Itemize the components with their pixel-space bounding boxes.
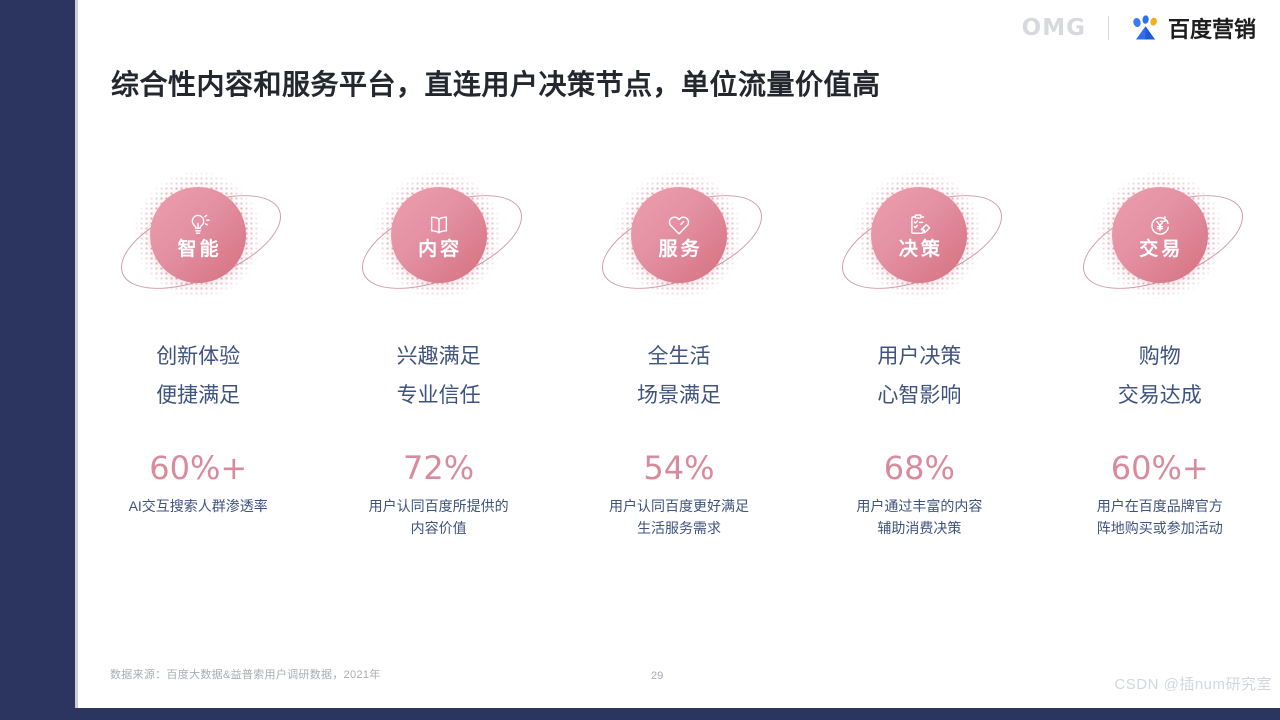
badge-disc: 交易 — [1112, 187, 1208, 283]
heart-icon — [666, 212, 692, 238]
pillar-stat: 60%+ AI交互搜索人群渗透率 — [129, 452, 268, 517]
badge-intelligence: 智能 — [118, 160, 278, 310]
value-line-2: 便捷满足 — [156, 377, 240, 416]
clipboard-checklist-icon — [906, 212, 932, 238]
csdn-watermark: CSDN @插num研究室 — [1114, 673, 1272, 694]
badge-disc: 智能 — [150, 187, 246, 283]
pillar-value-text: 创新体验 便捷满足 — [156, 338, 240, 416]
value-line-2: 专业信任 — [397, 377, 481, 416]
stat-caption: 用户通过丰富的内容 辅助消费决策 — [856, 495, 982, 540]
pillar-value-text: 兴趣满足 专业信任 — [397, 338, 481, 416]
value-line-2: 场景满足 — [637, 377, 721, 416]
brand-divider — [1108, 16, 1109, 40]
badge-transaction: 交易 — [1080, 160, 1240, 310]
value-line-2: 心智影响 — [877, 377, 961, 416]
slide-canvas: OMG 百度营销 综合性内容和服务平台，直连用户决策节点，单位流量价值高 — [78, 0, 1280, 708]
baidu-paw-icon — [1131, 15, 1161, 41]
pillar-transaction[interactable]: 交易 购物 交易达成 60%+ 用户在百度品牌官方 阵地购买或参加活动 — [1040, 160, 1280, 539]
stat-caption: 用户认同百度所提供的 内容价值 — [369, 495, 509, 540]
badge-label: 内容 — [415, 240, 462, 259]
pillar-value-text: 全生活 场景满足 — [637, 338, 721, 416]
pillar-stat: 68% 用户通过丰富的内容 辅助消费决策 — [856, 452, 982, 540]
badge-decision: 决策 — [839, 160, 999, 310]
stat-number: 60%+ — [129, 452, 268, 484]
stat-caption: 用户认同百度更好满足 生活服务需求 — [609, 495, 749, 540]
pillar-service[interactable]: 服务 全生活 场景满足 54% 用户认同百度更好满足 生活服务需求 — [559, 160, 799, 539]
baidu-marketing-label: 百度营销 — [1168, 12, 1256, 44]
page-number: 29 — [651, 670, 663, 682]
bottom-accent-band — [0, 708, 1280, 720]
stat-number: 60%+ — [1097, 452, 1223, 484]
stat-number: 54% — [609, 452, 749, 484]
badge-label: 服务 — [655, 240, 702, 259]
stat-caption: 用户在百度品牌官方 阵地购买或参加活动 — [1097, 495, 1223, 540]
yuan-exchange-icon — [1147, 212, 1173, 238]
badge-service: 服务 — [599, 160, 759, 310]
badge-disc: 决策 — [871, 187, 967, 283]
pillar-value-text: 用户决策 心智影响 — [877, 338, 961, 416]
badge-label: 智能 — [175, 240, 222, 259]
pillar-stat: 60%+ 用户在百度品牌官方 阵地购买或参加活动 — [1097, 452, 1223, 540]
brand-bar: OMG 百度营销 — [1022, 12, 1256, 44]
value-line-1: 用户决策 — [877, 338, 961, 377]
open-book-icon — [426, 212, 452, 238]
stat-number: 72% — [369, 452, 509, 484]
baidu-marketing-logo: 百度营销 — [1131, 12, 1256, 44]
badge-disc: 内容 — [391, 187, 487, 283]
pillar-value-text: 购物 交易达成 — [1118, 338, 1202, 416]
value-line-1: 创新体验 — [156, 338, 240, 377]
badge-disc: 服务 — [631, 187, 727, 283]
badge-content: 内容 — [359, 160, 519, 310]
pillar-stat: 72% 用户认同百度所提供的 内容价值 — [369, 452, 509, 540]
pillar-intelligence[interactable]: 智能 创新体验 便捷满足 60%+ AI交互搜索人群渗透率 — [78, 160, 318, 539]
source-note: 数据来源：百度大数据&益普索用户调研数据，2021年 — [110, 666, 381, 682]
value-line-1: 购物 — [1118, 338, 1202, 377]
stat-number: 68% — [856, 452, 982, 484]
value-line-1: 全生活 — [637, 338, 721, 377]
value-line-2: 交易达成 — [1118, 377, 1202, 416]
value-line-1: 兴趣满足 — [397, 338, 481, 377]
pillar-content[interactable]: 内容 兴趣满足 专业信任 72% 用户认同百度所提供的 内容价值 — [318, 160, 558, 539]
stat-caption: AI交互搜索人群渗透率 — [129, 495, 268, 517]
badge-label: 交易 — [1136, 240, 1183, 259]
omg-logo: OMG — [1022, 15, 1086, 41]
pillar-row: 智能 创新体验 便捷满足 60%+ AI交互搜索人群渗透率 — [78, 160, 1280, 539]
badge-label: 决策 — [896, 240, 943, 259]
page-title: 综合性内容和服务平台，直连用户决策节点，单位流量价值高 — [111, 63, 881, 103]
lightbulb-icon — [185, 212, 211, 238]
left-accent-band — [0, 0, 75, 720]
slide-root: OMG 百度营销 综合性内容和服务平台，直连用户决策节点，单位流量价值高 — [0, 0, 1280, 720]
pillar-stat: 54% 用户认同百度更好满足 生活服务需求 — [609, 452, 749, 540]
pillar-decision[interactable]: 决策 用户决策 心智影响 68% 用户通过丰富的内容 辅助消费决策 — [799, 160, 1039, 539]
